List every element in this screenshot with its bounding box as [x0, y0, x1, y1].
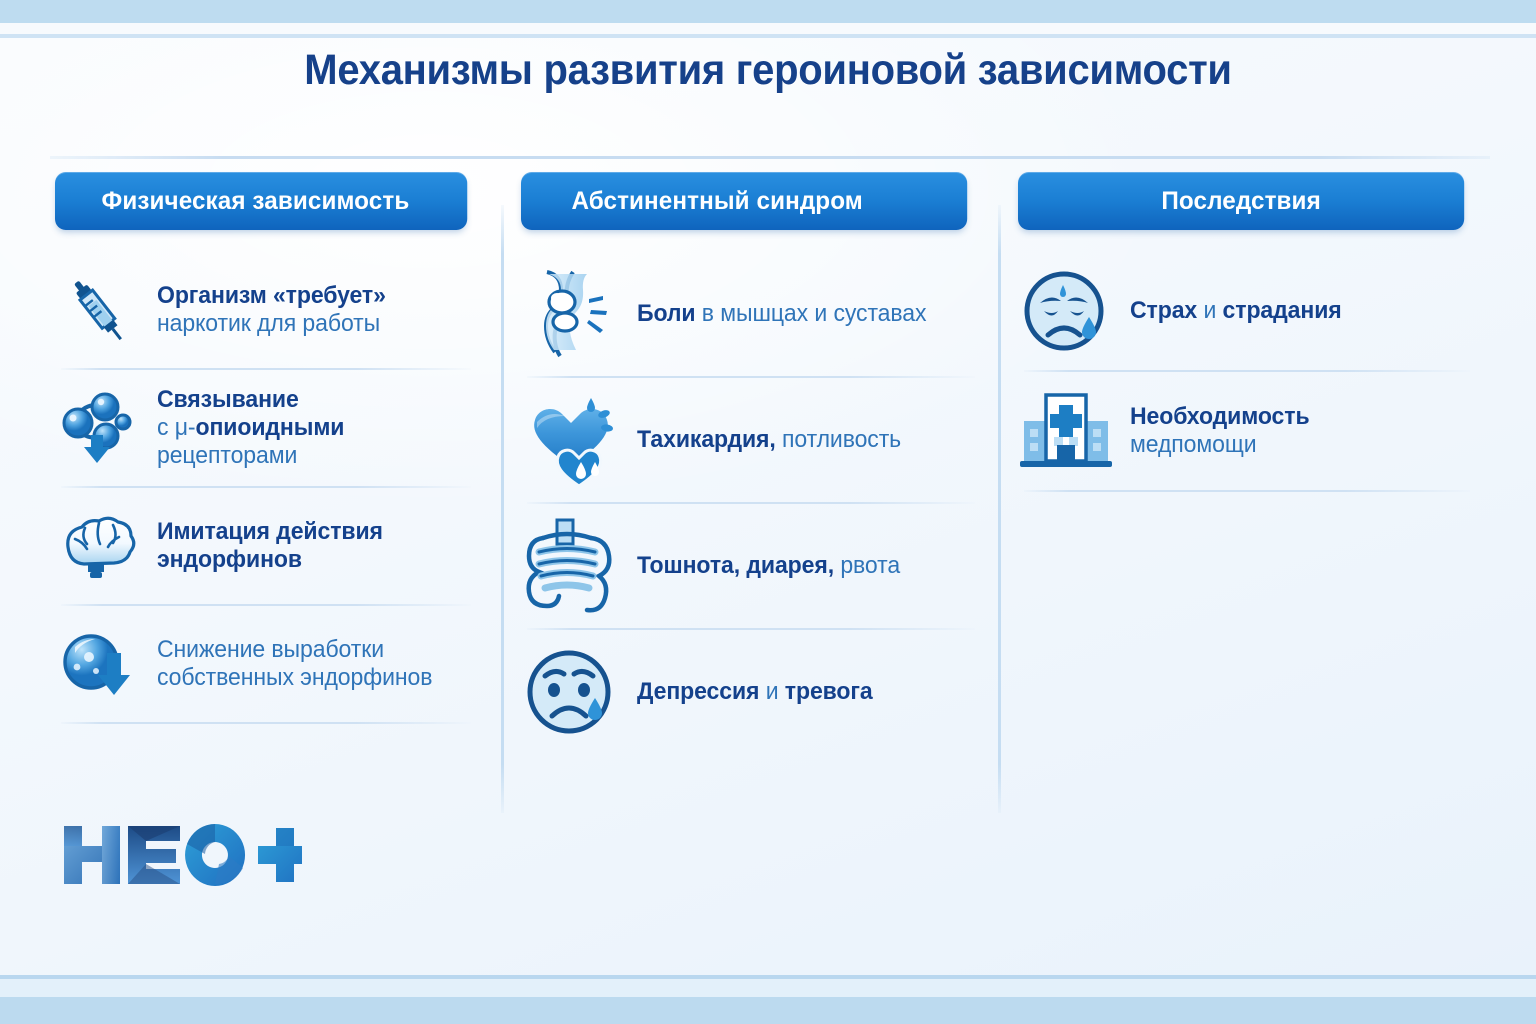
column-withdrawal-syndrome: Абстинентный синдром	[521, 172, 981, 754]
top-white-strip	[0, 23, 1536, 34]
list-item-label: Необходимость медпомощи	[1130, 403, 1310, 459]
item-divider	[1024, 490, 1470, 492]
list-item[interactable]: Организм «требует» наркотик для работы	[55, 252, 480, 368]
item-divider	[61, 722, 471, 724]
item-list-consequences: Страх и страдания	[1018, 252, 1478, 492]
item-list-physical-dependence: Организм «требует» наркотик для работы	[55, 252, 480, 724]
title-divider	[50, 156, 1490, 159]
list-item-label: Страх и страдания	[1130, 297, 1342, 325]
bottom-decorative-band	[0, 997, 1536, 1024]
bottom-white-strip	[0, 979, 1536, 997]
heart-sweat-icon	[521, 390, 621, 490]
intestine-icon	[521, 516, 621, 616]
sphere-down-arrow-icon	[55, 621, 141, 707]
list-item-label: Депрессия и тревога	[637, 678, 873, 706]
syringe-icon	[55, 267, 141, 353]
column-header-consequences: Последствия	[1018, 172, 1464, 230]
list-item-label: Имитация действия эндорфинов	[157, 518, 383, 574]
list-item[interactable]: Снижение выработки собственных эндорфино…	[55, 606, 480, 722]
worried-crying-face-icon	[1018, 263, 1114, 359]
list-item-label: Организм «требует» наркотик для работы	[157, 282, 386, 338]
list-item-label: Боли в мышцах и суставах	[637, 300, 926, 328]
column-physical-dependence: Физическая зависимость	[55, 172, 480, 724]
column-consequences: Последствия Страх и страдания	[1018, 172, 1478, 492]
list-item-label: Тахикардия, потливость	[637, 426, 901, 454]
brand-logo[interactable]	[62, 818, 302, 894]
list-item[interactable]: Тошнота, диарея, рвота	[521, 504, 981, 628]
knee-joint-pain-icon	[521, 264, 621, 364]
list-item-label: Связывание с μ-опиоидными рецепторами	[157, 386, 344, 469]
list-item[interactable]: Боли в мышцах и суставах	[521, 252, 981, 376]
list-item[interactable]: Имитация действия эндорфинов	[55, 488, 480, 604]
receptor-molecules-icon	[55, 385, 141, 471]
sad-crying-face-icon	[521, 642, 621, 742]
list-item[interactable]: Страх и страдания	[1018, 252, 1478, 370]
list-item[interactable]: Связывание с μ-опиоидными рецепторами	[55, 370, 480, 486]
page-title: Механизмы развития героиновой зависимост…	[54, 46, 1482, 95]
list-item-label: Снижение выработки собственных эндорфино…	[157, 636, 432, 692]
brain-icon	[55, 503, 141, 589]
list-item[interactable]: Депрессия и тревога	[521, 630, 981, 754]
list-item[interactable]: Необходимость медпомощи	[1018, 372, 1478, 490]
list-item[interactable]: Тахикардия, потливость	[521, 378, 981, 502]
list-item-label: Тошнота, диарея, рвота	[637, 552, 900, 580]
top-decorative-band	[0, 0, 1536, 23]
column-header-withdrawal-syndrome: Абстинентный синдром	[521, 172, 967, 230]
column-divider-1	[501, 205, 504, 813]
column-header-physical-dependence: Физическая зависимость	[55, 172, 467, 230]
column-divider-2	[998, 205, 1001, 813]
item-list-withdrawal-syndrome: Боли в мышцах и суставах	[521, 252, 981, 754]
hospital-icon	[1018, 383, 1114, 479]
